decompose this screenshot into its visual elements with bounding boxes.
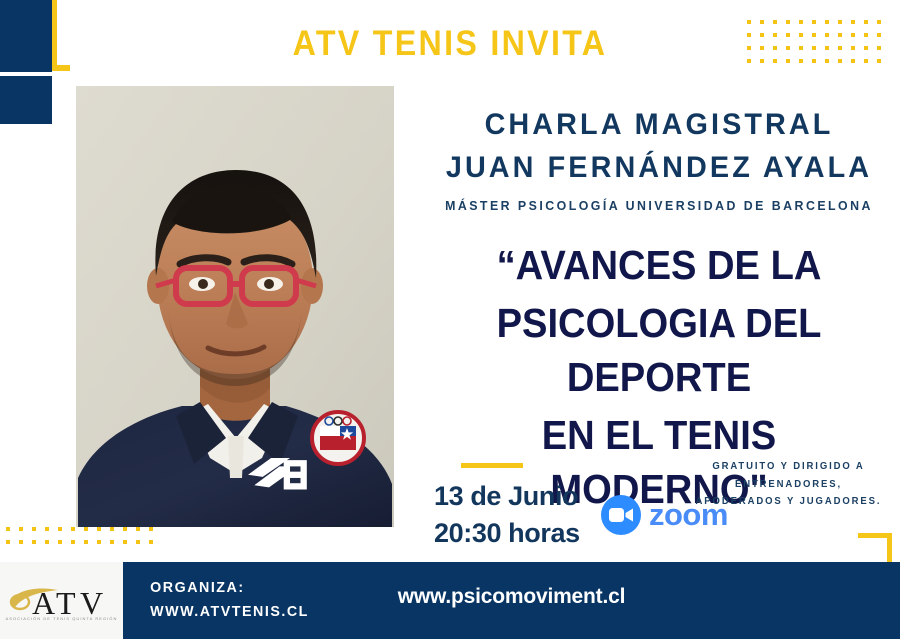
decorative-dot: [71, 527, 75, 531]
atv-logo-container: A T V ASOCIACIÓN DE TENIS QUINTA REGIÓN: [0, 562, 123, 639]
decorative-dot: [45, 527, 49, 531]
decorative-dot: [45, 540, 49, 544]
svg-text:T: T: [56, 585, 76, 620]
decorative-dot: [58, 527, 62, 531]
decorative-dot: [6, 540, 10, 544]
decorative-dot: [32, 527, 36, 531]
video-camera-glyph: [609, 508, 633, 522]
main-website-link[interactable]: www.psicomoviment.cl: [123, 585, 900, 609]
decorative-dot: [71, 540, 75, 544]
atv-logo-mark-icon: A T V: [6, 580, 118, 620]
decorative-dot: [877, 46, 881, 50]
flyer-poster: ATV TENIS INVITA: [0, 0, 900, 639]
navy-block-left-lower: [0, 76, 52, 124]
decorative-dot: [136, 527, 140, 531]
charla-magistral-label: CHARLA MAGISTRAL: [439, 104, 879, 147]
speaker-credentials: MÁSTER PSICOLOGÍA UNIVERSIDAD DE BARCELO…: [441, 196, 876, 216]
decorative-dot: [58, 540, 62, 544]
event-date-block: 13 de Junio 20:30 horas: [434, 478, 604, 553]
chile-badge-icon: [312, 412, 364, 464]
dot-grid-bottom-left: [6, 527, 162, 553]
date-divider: [461, 463, 523, 468]
decorative-dot: [149, 527, 153, 531]
decorative-dot: [84, 527, 88, 531]
free-attendance-notice: GRATUITO Y DIRIGIDO A ENTRENADORES, APOD…: [691, 458, 886, 511]
speaker-name: JUAN FERNÁNDEZ AYALA: [439, 147, 879, 190]
decorative-dot: [97, 527, 101, 531]
svg-text:V: V: [80, 585, 103, 620]
decorative-dot: [84, 540, 88, 544]
decorative-dot: [123, 527, 127, 531]
decorative-dot: [32, 540, 36, 544]
talk-title-line-1: “AVANCES DE LA: [446, 238, 872, 292]
speaker-portrait-illustration: [76, 86, 394, 527]
event-time: 20:30 horas: [434, 515, 604, 552]
decorative-dot: [19, 540, 23, 544]
decorative-dot: [877, 33, 881, 37]
speaker-photo: [76, 86, 394, 527]
decorative-dot: [864, 33, 868, 37]
event-date: 13 de Junio: [434, 478, 604, 515]
decorative-dot: [110, 540, 114, 544]
decorative-dot: [864, 20, 868, 24]
decorative-dot: [123, 540, 127, 544]
decorative-dot: [877, 59, 881, 63]
decorative-dot: [6, 527, 10, 531]
decorative-dot: [877, 20, 881, 24]
zoom-camera-icon: [601, 495, 641, 535]
decorative-dot: [864, 46, 868, 50]
decorative-dot: [149, 540, 153, 544]
page-title: ATV TENIS INVITA: [36, 24, 864, 64]
talk-title-line-2: PSICOLOGIA DEL DEPORTE: [446, 296, 872, 404]
decorative-dot: [110, 527, 114, 531]
decorative-dot: [864, 59, 868, 63]
decorative-dot: [19, 527, 23, 531]
atv-logo: A T V: [6, 580, 118, 620]
decorative-dot: [136, 540, 140, 544]
svg-text:A: A: [32, 585, 55, 620]
decorative-dot: [97, 540, 101, 544]
yellow-bracket-top-left-arm: [52, 66, 70, 71]
speaker-info-block: CHARLA MAGISTRAL JUAN FERNÁNDEZ AYALA MÁ…: [430, 104, 888, 516]
